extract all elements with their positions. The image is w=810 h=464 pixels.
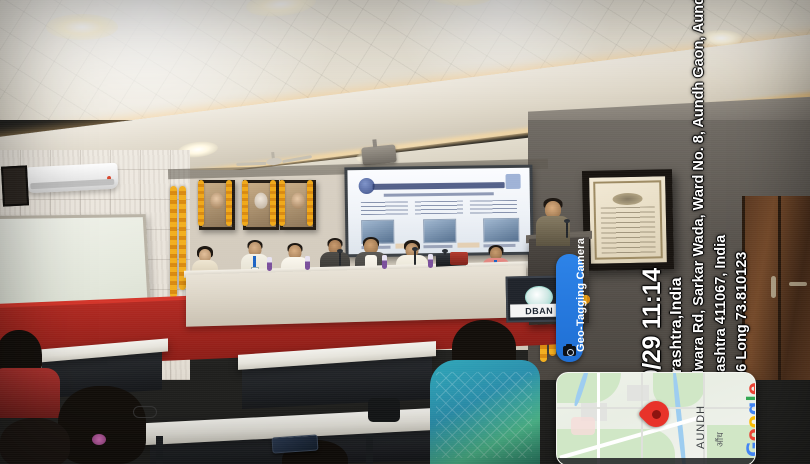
slide-text-column xyxy=(470,200,517,214)
desk-leg xyxy=(366,434,373,464)
slide-text-column xyxy=(415,201,462,215)
marigold-garland xyxy=(242,180,248,226)
marigold-garland xyxy=(307,180,313,226)
hair-flower xyxy=(92,434,106,445)
podium-microphone xyxy=(566,222,568,238)
slide-subtitle-bar xyxy=(384,192,493,197)
map-road xyxy=(597,373,600,464)
map-bottom-bar xyxy=(557,458,755,464)
bag-under-desk xyxy=(368,398,400,422)
geo-badge-label: Geo-Tagging Camera xyxy=(575,238,587,352)
marigold-garland xyxy=(198,180,204,226)
geo-tagging-camera-badge[interactable]: Geo-Tagging Camera xyxy=(556,254,583,362)
slide-title-bar xyxy=(373,182,504,190)
camera-icon xyxy=(563,346,576,356)
slide-logo-right xyxy=(505,174,520,189)
wall-picture-frame xyxy=(1,165,29,206)
audience-member xyxy=(0,418,70,464)
audience-member xyxy=(58,386,146,464)
water-bottle xyxy=(382,255,387,269)
dbank-sign-text: DBAN xyxy=(525,305,553,315)
audience-member-torso xyxy=(0,368,60,418)
marigold-garland xyxy=(226,180,232,226)
dais-table xyxy=(186,265,526,326)
framed-charter xyxy=(582,169,674,271)
marigold-garland xyxy=(279,180,285,226)
air-conditioner-unit xyxy=(25,163,118,194)
eyeglasses xyxy=(133,406,157,418)
water-bottle xyxy=(267,257,272,271)
water-bottle xyxy=(428,254,433,268)
marigold-garland xyxy=(270,180,276,226)
map-pin-icon xyxy=(643,401,669,427)
hall-door xyxy=(742,196,810,380)
smartphone-on-desk xyxy=(271,434,318,453)
ceiling-downlight xyxy=(46,14,118,40)
hanging-garland xyxy=(170,186,177,298)
slide-caption-strip xyxy=(458,242,480,247)
map-place-label: AUNDH xyxy=(695,405,707,449)
saree-pattern xyxy=(436,372,532,458)
map-block xyxy=(627,385,649,401)
table-microphone xyxy=(414,250,416,265)
desk-leg xyxy=(156,436,163,464)
water-bottle xyxy=(305,256,310,270)
google-logo: Google xyxy=(743,382,756,457)
memento-on-dais xyxy=(450,252,468,265)
map-highlight-area xyxy=(571,417,595,435)
table-microphone xyxy=(339,252,341,266)
map-place-label-local: औंध xyxy=(713,432,726,447)
screenshot-root: DBAN Geo-Tagging Camera 2025/09/29 11:14… xyxy=(0,0,810,464)
map-inset[interactable]: AUNDH औंध Google xyxy=(556,372,756,464)
slide-photo xyxy=(483,218,520,242)
slide-text-column xyxy=(361,201,408,215)
